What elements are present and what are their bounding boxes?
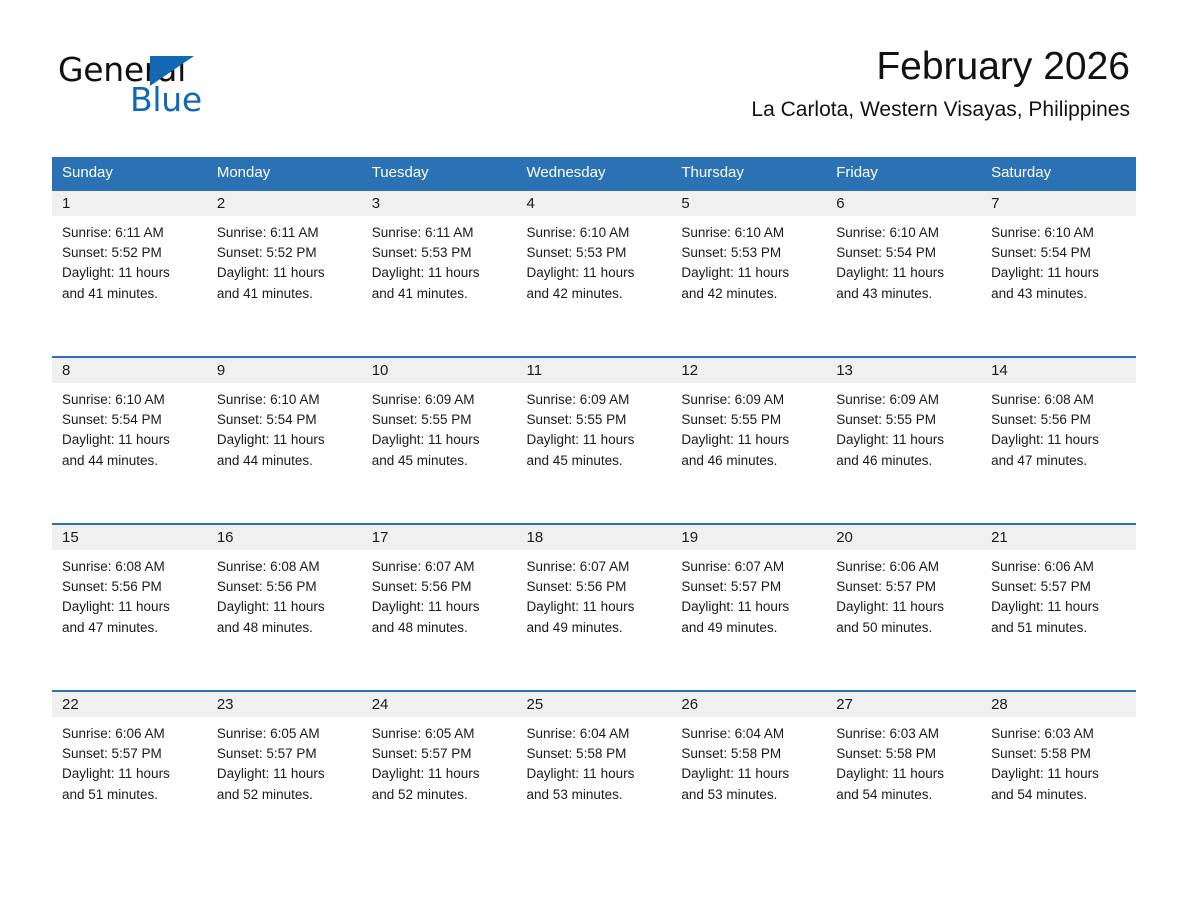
sunrise-text: Sunrise: 6:09 AM xyxy=(681,390,816,410)
day-number: 23 xyxy=(207,692,362,717)
daylight-text-line2: and 47 minutes. xyxy=(62,618,197,638)
sunset-text: Sunset: 5:53 PM xyxy=(527,243,662,263)
day-details: Sunrise: 6:09 AMSunset: 5:55 PMDaylight:… xyxy=(362,383,517,471)
logo-text-blue: Blue xyxy=(130,82,202,118)
sunrise-text: Sunrise: 6:10 AM xyxy=(217,390,352,410)
daylight-text-line2: and 52 minutes. xyxy=(217,785,352,805)
sunrise-text: Sunrise: 6:10 AM xyxy=(836,223,971,243)
daylight-text-line1: Daylight: 11 hours xyxy=(217,597,352,617)
calendar-day-cell[interactable]: 10Sunrise: 6:09 AMSunset: 5:55 PMDayligh… xyxy=(362,357,517,524)
daylight-text-line1: Daylight: 11 hours xyxy=(217,430,352,450)
calendar-day-cell[interactable]: 14Sunrise: 6:08 AMSunset: 5:56 PMDayligh… xyxy=(981,357,1136,524)
weekday-header-thursday: Thursday xyxy=(671,157,826,190)
sunrise-text: Sunrise: 6:11 AM xyxy=(217,223,352,243)
sunrise-text: Sunrise: 6:08 AM xyxy=(217,557,352,577)
calendar-day-cell[interactable]: 19Sunrise: 6:07 AMSunset: 5:57 PMDayligh… xyxy=(671,524,826,691)
day-details: Sunrise: 6:03 AMSunset: 5:58 PMDaylight:… xyxy=(826,717,981,805)
day-number: 11 xyxy=(517,358,672,383)
day-details: Sunrise: 6:10 AMSunset: 5:53 PMDaylight:… xyxy=(671,216,826,304)
weekday-header-monday: Monday xyxy=(207,157,362,190)
daylight-text-line2: and 48 minutes. xyxy=(372,618,507,638)
day-details: Sunrise: 6:08 AMSunset: 5:56 PMDaylight:… xyxy=(981,383,1136,471)
sunrise-text: Sunrise: 6:06 AM xyxy=(62,724,197,744)
calendar-day-cell[interactable]: 1Sunrise: 6:11 AMSunset: 5:52 PMDaylight… xyxy=(52,190,207,357)
calendar-week-row: 1Sunrise: 6:11 AMSunset: 5:52 PMDaylight… xyxy=(52,190,1136,357)
sunrise-text: Sunrise: 6:10 AM xyxy=(527,223,662,243)
daylight-text-line2: and 47 minutes. xyxy=(991,451,1126,471)
day-number: 27 xyxy=(826,692,981,717)
day-details: Sunrise: 6:03 AMSunset: 5:58 PMDaylight:… xyxy=(981,717,1136,805)
calendar-day-cell[interactable]: 3Sunrise: 6:11 AMSunset: 5:53 PMDaylight… xyxy=(362,190,517,357)
sunset-text: Sunset: 5:53 PM xyxy=(372,243,507,263)
sunset-text: Sunset: 5:55 PM xyxy=(372,410,507,430)
sunset-text: Sunset: 5:56 PM xyxy=(372,577,507,597)
calendar-day-cell[interactable]: 21Sunrise: 6:06 AMSunset: 5:57 PMDayligh… xyxy=(981,524,1136,691)
weekday-header-wednesday: Wednesday xyxy=(517,157,672,190)
sunrise-text: Sunrise: 6:10 AM xyxy=(991,223,1126,243)
day-details: Sunrise: 6:10 AMSunset: 5:54 PMDaylight:… xyxy=(826,216,981,304)
sunrise-text: Sunrise: 6:11 AM xyxy=(372,223,507,243)
daylight-text-line2: and 51 minutes. xyxy=(62,785,197,805)
sunset-text: Sunset: 5:57 PM xyxy=(991,577,1126,597)
sunrise-text: Sunrise: 6:11 AM xyxy=(62,223,197,243)
daylight-text-line2: and 41 minutes. xyxy=(62,284,197,304)
sunset-text: Sunset: 5:54 PM xyxy=(991,243,1126,263)
calendar-day-cell[interactable]: 27Sunrise: 6:03 AMSunset: 5:58 PMDayligh… xyxy=(826,691,981,857)
daylight-text-line2: and 46 minutes. xyxy=(681,451,816,471)
daylight-text-line1: Daylight: 11 hours xyxy=(836,597,971,617)
day-details: Sunrise: 6:06 AMSunset: 5:57 PMDaylight:… xyxy=(826,550,981,638)
daylight-text-line1: Daylight: 11 hours xyxy=(836,430,971,450)
calendar-day-cell[interactable]: 9Sunrise: 6:10 AMSunset: 5:54 PMDaylight… xyxy=(207,357,362,524)
calendar-week-row: 22Sunrise: 6:06 AMSunset: 5:57 PMDayligh… xyxy=(52,691,1136,857)
day-details: Sunrise: 6:11 AMSunset: 5:52 PMDaylight:… xyxy=(207,216,362,304)
calendar-day-cell[interactable]: 4Sunrise: 6:10 AMSunset: 5:53 PMDaylight… xyxy=(517,190,672,357)
sunrise-text: Sunrise: 6:03 AM xyxy=(836,724,971,744)
day-details: Sunrise: 6:09 AMSunset: 5:55 PMDaylight:… xyxy=(826,383,981,471)
daylight-text-line1: Daylight: 11 hours xyxy=(681,764,816,784)
daylight-text-line2: and 44 minutes. xyxy=(217,451,352,471)
day-number: 3 xyxy=(362,191,517,216)
day-number: 8 xyxy=(52,358,207,383)
day-details: Sunrise: 6:05 AMSunset: 5:57 PMDaylight:… xyxy=(207,717,362,805)
day-number: 2 xyxy=(207,191,362,216)
day-details: Sunrise: 6:11 AMSunset: 5:53 PMDaylight:… xyxy=(362,216,517,304)
sunset-text: Sunset: 5:54 PM xyxy=(836,243,971,263)
daylight-text-line1: Daylight: 11 hours xyxy=(217,263,352,283)
calendar-day-cell[interactable]: 18Sunrise: 6:07 AMSunset: 5:56 PMDayligh… xyxy=(517,524,672,691)
sunrise-text: Sunrise: 6:10 AM xyxy=(681,223,816,243)
day-details: Sunrise: 6:08 AMSunset: 5:56 PMDaylight:… xyxy=(207,550,362,638)
daylight-text-line2: and 51 minutes. xyxy=(991,618,1126,638)
day-number: 24 xyxy=(362,692,517,717)
sunset-text: Sunset: 5:56 PM xyxy=(527,577,662,597)
sunset-text: Sunset: 5:55 PM xyxy=(681,410,816,430)
sunset-text: Sunset: 5:54 PM xyxy=(217,410,352,430)
day-number: 4 xyxy=(517,191,672,216)
day-number: 25 xyxy=(517,692,672,717)
daylight-text-line1: Daylight: 11 hours xyxy=(527,764,662,784)
weekday-header-sunday: Sunday xyxy=(52,157,207,190)
day-number: 19 xyxy=(671,525,826,550)
sunrise-text: Sunrise: 6:09 AM xyxy=(527,390,662,410)
calendar-day-cell[interactable]: 5Sunrise: 6:10 AMSunset: 5:53 PMDaylight… xyxy=(671,190,826,357)
daylight-text-line1: Daylight: 11 hours xyxy=(372,597,507,617)
daylight-text-line2: and 41 minutes. xyxy=(217,284,352,304)
day-details: Sunrise: 6:06 AMSunset: 5:57 PMDaylight:… xyxy=(52,717,207,805)
calendar-header-row: Sunday Monday Tuesday Wednesday Thursday… xyxy=(52,157,1136,190)
calendar-day-cell[interactable]: 25Sunrise: 6:04 AMSunset: 5:58 PMDayligh… xyxy=(517,691,672,857)
day-details: Sunrise: 6:07 AMSunset: 5:56 PMDaylight:… xyxy=(517,550,672,638)
sunset-text: Sunset: 5:58 PM xyxy=(681,744,816,764)
day-number: 21 xyxy=(981,525,1136,550)
sunset-text: Sunset: 5:57 PM xyxy=(836,577,971,597)
day-details: Sunrise: 6:09 AMSunset: 5:55 PMDaylight:… xyxy=(671,383,826,471)
calendar-day-cell[interactable]: 12Sunrise: 6:09 AMSunset: 5:55 PMDayligh… xyxy=(671,357,826,524)
calendar-body: 1Sunrise: 6:11 AMSunset: 5:52 PMDaylight… xyxy=(52,190,1136,857)
daylight-text-line2: and 54 minutes. xyxy=(836,785,971,805)
day-number: 6 xyxy=(826,191,981,216)
day-number: 10 xyxy=(362,358,517,383)
day-number: 16 xyxy=(207,525,362,550)
sunrise-text: Sunrise: 6:09 AM xyxy=(836,390,971,410)
day-number: 12 xyxy=(671,358,826,383)
daylight-text-line2: and 50 minutes. xyxy=(836,618,971,638)
sunrise-text: Sunrise: 6:10 AM xyxy=(62,390,197,410)
daylight-text-line1: Daylight: 11 hours xyxy=(836,764,971,784)
sunset-text: Sunset: 5:55 PM xyxy=(527,410,662,430)
sunrise-text: Sunrise: 6:03 AM xyxy=(991,724,1126,744)
sunrise-text: Sunrise: 6:09 AM xyxy=(372,390,507,410)
calendar-day-cell[interactable]: 23Sunrise: 6:05 AMSunset: 5:57 PMDayligh… xyxy=(207,691,362,857)
calendar-day-cell[interactable]: 24Sunrise: 6:05 AMSunset: 5:57 PMDayligh… xyxy=(362,691,517,857)
daylight-text-line1: Daylight: 11 hours xyxy=(372,263,507,283)
daylight-text-line1: Daylight: 11 hours xyxy=(527,263,662,283)
day-number: 1 xyxy=(52,191,207,216)
sunset-text: Sunset: 5:56 PM xyxy=(217,577,352,597)
calendar-day-cell[interactable]: 7Sunrise: 6:10 AMSunset: 5:54 PMDaylight… xyxy=(981,190,1136,357)
daylight-text-line2: and 45 minutes. xyxy=(527,451,662,471)
day-details: Sunrise: 6:05 AMSunset: 5:57 PMDaylight:… xyxy=(362,717,517,805)
sunset-text: Sunset: 5:52 PM xyxy=(217,243,352,263)
sunrise-text: Sunrise: 6:08 AM xyxy=(62,557,197,577)
day-number: 22 xyxy=(52,692,207,717)
sunrise-text: Sunrise: 6:06 AM xyxy=(836,557,971,577)
sunset-text: Sunset: 5:57 PM xyxy=(372,744,507,764)
sunrise-text: Sunrise: 6:05 AM xyxy=(217,724,352,744)
day-details: Sunrise: 6:04 AMSunset: 5:58 PMDaylight:… xyxy=(517,717,672,805)
calendar-week-row: 8Sunrise: 6:10 AMSunset: 5:54 PMDaylight… xyxy=(52,357,1136,524)
daylight-text-line2: and 49 minutes. xyxy=(681,618,816,638)
sunset-text: Sunset: 5:57 PM xyxy=(217,744,352,764)
sunset-text: Sunset: 5:58 PM xyxy=(527,744,662,764)
weekday-header-saturday: Saturday xyxy=(981,157,1136,190)
daylight-text-line2: and 43 minutes. xyxy=(991,284,1126,304)
daylight-text-line1: Daylight: 11 hours xyxy=(372,764,507,784)
daylight-text-line2: and 52 minutes. xyxy=(372,785,507,805)
sunrise-text: Sunrise: 6:07 AM xyxy=(372,557,507,577)
day-details: Sunrise: 6:07 AMSunset: 5:57 PMDaylight:… xyxy=(671,550,826,638)
weekday-header-tuesday: Tuesday xyxy=(362,157,517,190)
day-number: 7 xyxy=(981,191,1136,216)
sunset-text: Sunset: 5:57 PM xyxy=(681,577,816,597)
sunrise-text: Sunrise: 6:07 AM xyxy=(681,557,816,577)
calendar-day-cell[interactable]: 15Sunrise: 6:08 AMSunset: 5:56 PMDayligh… xyxy=(52,524,207,691)
daylight-text-line1: Daylight: 11 hours xyxy=(62,263,197,283)
calendar-day-cell[interactable]: 2Sunrise: 6:11 AMSunset: 5:52 PMDaylight… xyxy=(207,190,362,357)
calendar-day-cell[interactable]: 28Sunrise: 6:03 AMSunset: 5:58 PMDayligh… xyxy=(981,691,1136,857)
day-number: 15 xyxy=(52,525,207,550)
day-number: 9 xyxy=(207,358,362,383)
daylight-text-line2: and 48 minutes. xyxy=(217,618,352,638)
general-blue-logo[interactable]: General Blue xyxy=(58,52,298,118)
day-details: Sunrise: 6:10 AMSunset: 5:54 PMDaylight:… xyxy=(981,216,1136,304)
daylight-text-line2: and 43 minutes. xyxy=(836,284,971,304)
calendar-table: Sunday Monday Tuesday Wednesday Thursday… xyxy=(52,157,1136,857)
daylight-text-line1: Daylight: 11 hours xyxy=(62,430,197,450)
calendar-day-cell[interactable]: 20Sunrise: 6:06 AMSunset: 5:57 PMDayligh… xyxy=(826,524,981,691)
sunset-text: Sunset: 5:54 PM xyxy=(62,410,197,430)
day-number: 13 xyxy=(826,358,981,383)
calendar-page: General Blue February 2026 La Carlota, W… xyxy=(0,0,1188,918)
daylight-text-line1: Daylight: 11 hours xyxy=(62,597,197,617)
day-number: 17 xyxy=(362,525,517,550)
calendar-day-cell[interactable]: 8Sunrise: 6:10 AMSunset: 5:54 PMDaylight… xyxy=(52,357,207,524)
daylight-text-line2: and 54 minutes. xyxy=(991,785,1126,805)
calendar-day-cell[interactable]: 17Sunrise: 6:07 AMSunset: 5:56 PMDayligh… xyxy=(362,524,517,691)
day-details: Sunrise: 6:10 AMSunset: 5:54 PMDaylight:… xyxy=(52,383,207,471)
sunrise-text: Sunrise: 6:08 AM xyxy=(991,390,1126,410)
calendar-week-row: 15Sunrise: 6:08 AMSunset: 5:56 PMDayligh… xyxy=(52,524,1136,691)
day-details: Sunrise: 6:07 AMSunset: 5:56 PMDaylight:… xyxy=(362,550,517,638)
daylight-text-line1: Daylight: 11 hours xyxy=(527,430,662,450)
day-details: Sunrise: 6:04 AMSunset: 5:58 PMDaylight:… xyxy=(671,717,826,805)
daylight-text-line1: Daylight: 11 hours xyxy=(681,263,816,283)
page-header: General Blue February 2026 La Carlota, W… xyxy=(0,0,1188,110)
daylight-text-line2: and 46 minutes. xyxy=(836,451,971,471)
calendar-day-cell[interactable]: 6Sunrise: 6:10 AMSunset: 5:54 PMDaylight… xyxy=(826,190,981,357)
calendar-day-cell[interactable]: 26Sunrise: 6:04 AMSunset: 5:58 PMDayligh… xyxy=(671,691,826,857)
daylight-text-line2: and 41 minutes. xyxy=(372,284,507,304)
daylight-text-line1: Daylight: 11 hours xyxy=(991,430,1126,450)
daylight-text-line1: Daylight: 11 hours xyxy=(991,263,1126,283)
day-number: 20 xyxy=(826,525,981,550)
daylight-text-line1: Daylight: 11 hours xyxy=(681,597,816,617)
sunrise-text: Sunrise: 6:04 AM xyxy=(527,724,662,744)
daylight-text-line1: Daylight: 11 hours xyxy=(991,764,1126,784)
daylight-text-line1: Daylight: 11 hours xyxy=(681,430,816,450)
daylight-text-line2: and 49 minutes. xyxy=(527,618,662,638)
day-number: 14 xyxy=(981,358,1136,383)
day-details: Sunrise: 6:06 AMSunset: 5:57 PMDaylight:… xyxy=(981,550,1136,638)
calendar-day-cell[interactable]: 13Sunrise: 6:09 AMSunset: 5:55 PMDayligh… xyxy=(826,357,981,524)
day-number: 28 xyxy=(981,692,1136,717)
day-details: Sunrise: 6:08 AMSunset: 5:56 PMDaylight:… xyxy=(52,550,207,638)
sunset-text: Sunset: 5:58 PM xyxy=(991,744,1126,764)
daylight-text-line2: and 53 minutes. xyxy=(527,785,662,805)
sunset-text: Sunset: 5:56 PM xyxy=(62,577,197,597)
sunset-text: Sunset: 5:52 PM xyxy=(62,243,197,263)
daylight-text-line2: and 42 minutes. xyxy=(527,284,662,304)
sunset-text: Sunset: 5:58 PM xyxy=(836,744,971,764)
daylight-text-line1: Daylight: 11 hours xyxy=(62,764,197,784)
daylight-text-line1: Daylight: 11 hours xyxy=(217,764,352,784)
calendar-day-cell[interactable]: 22Sunrise: 6:06 AMSunset: 5:57 PMDayligh… xyxy=(52,691,207,857)
daylight-text-line1: Daylight: 11 hours xyxy=(836,263,971,283)
calendar-day-cell[interactable]: 16Sunrise: 6:08 AMSunset: 5:56 PMDayligh… xyxy=(207,524,362,691)
weekday-header-friday: Friday xyxy=(826,157,981,190)
daylight-text-line2: and 53 minutes. xyxy=(681,785,816,805)
day-number: 5 xyxy=(671,191,826,216)
day-details: Sunrise: 6:10 AMSunset: 5:54 PMDaylight:… xyxy=(207,383,362,471)
sunset-text: Sunset: 5:57 PM xyxy=(62,744,197,764)
sunset-text: Sunset: 5:53 PM xyxy=(681,243,816,263)
day-number: 18 xyxy=(517,525,672,550)
day-number: 26 xyxy=(671,692,826,717)
day-details: Sunrise: 6:10 AMSunset: 5:53 PMDaylight:… xyxy=(517,216,672,304)
sunset-text: Sunset: 5:55 PM xyxy=(836,410,971,430)
day-details: Sunrise: 6:09 AMSunset: 5:55 PMDaylight:… xyxy=(517,383,672,471)
daylight-text-line2: and 44 minutes. xyxy=(62,451,197,471)
daylight-text-line2: and 42 minutes. xyxy=(681,284,816,304)
sunrise-text: Sunrise: 6:05 AM xyxy=(372,724,507,744)
daylight-text-line1: Daylight: 11 hours xyxy=(991,597,1126,617)
day-details: Sunrise: 6:11 AMSunset: 5:52 PMDaylight:… xyxy=(52,216,207,304)
daylight-text-line2: and 45 minutes. xyxy=(372,451,507,471)
sunrise-text: Sunrise: 6:06 AM xyxy=(991,557,1126,577)
sunrise-text: Sunrise: 6:04 AM xyxy=(681,724,816,744)
daylight-text-line1: Daylight: 11 hours xyxy=(372,430,507,450)
sunrise-text: Sunrise: 6:07 AM xyxy=(527,557,662,577)
sunset-text: Sunset: 5:56 PM xyxy=(991,410,1126,430)
daylight-text-line1: Daylight: 11 hours xyxy=(527,597,662,617)
calendar-day-cell[interactable]: 11Sunrise: 6:09 AMSunset: 5:55 PMDayligh… xyxy=(517,357,672,524)
